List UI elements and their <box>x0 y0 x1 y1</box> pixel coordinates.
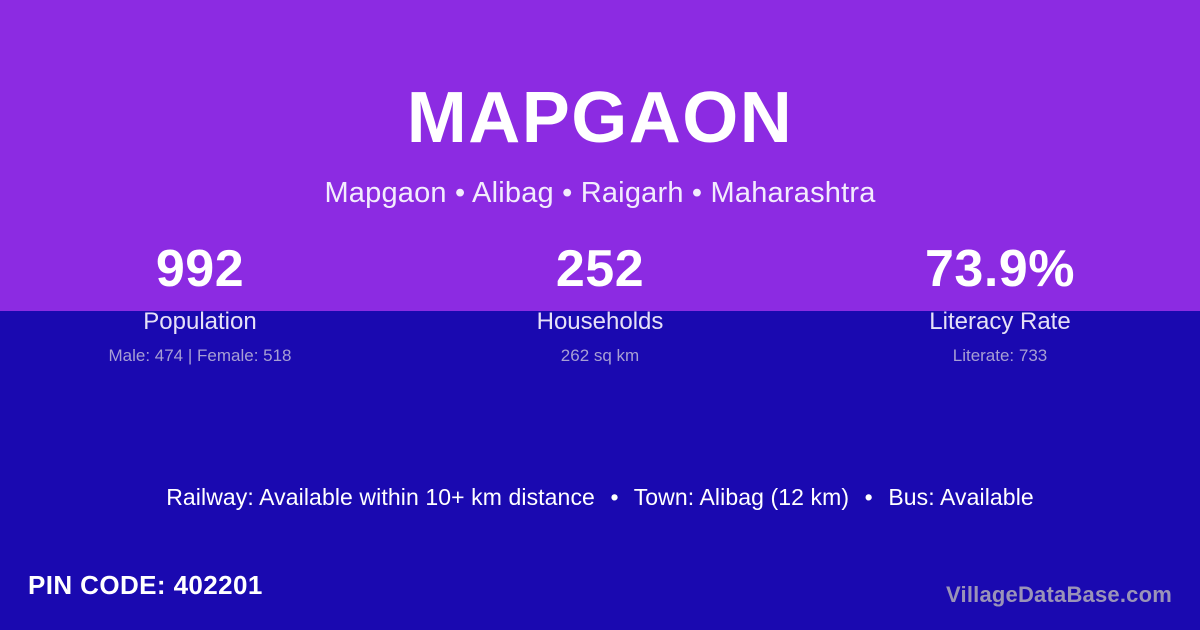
transit-bus: Bus: Available <box>888 484 1033 510</box>
stat-value-households: 252 <box>400 243 800 295</box>
breadcrumb: Mapgaon • Alibag • Raigarh • Maharashtra <box>0 178 1200 210</box>
stat-literacy-rate: 73.9% Literacy Rate Literate: 733 <box>800 243 1200 366</box>
stat-households: 252 Households 262 sq km <box>400 243 800 366</box>
footer: PIN CODE: 402201 VillageDataBase.com <box>0 556 1200 630</box>
stat-value-literacy-rate: 73.9% <box>800 243 1200 295</box>
stat-population: 992 Population Male: 474 | Female: 518 <box>0 243 400 366</box>
pin-code: PIN CODE: 402201 <box>28 570 263 601</box>
stat-label-households: Households <box>400 309 800 335</box>
header-block: MAPGAON Mapgaon • Alibag • Raigarh • Mah… <box>0 0 1200 210</box>
transit-town: Town: Alibag (12 km) <box>634 484 849 510</box>
transit-info-row: Railway: Available within 10+ km distanc… <box>0 484 1200 511</box>
brand-watermark: VillageDataBase.com <box>946 582 1172 608</box>
stat-sub-households: 262 sq km <box>400 347 800 366</box>
page-title: MAPGAON <box>0 82 1200 154</box>
stat-sub-population: Male: 474 | Female: 518 <box>0 347 400 366</box>
stat-label-literacy-rate: Literacy Rate <box>800 309 1200 335</box>
village-info-card: MAPGAON Mapgaon • Alibag • Raigarh • Mah… <box>0 0 1200 630</box>
stats-row: 992 Population Male: 474 | Female: 518 2… <box>0 243 1200 366</box>
transit-separator-2: • <box>856 484 882 511</box>
transit-separator-1: • <box>601 484 627 511</box>
stat-label-population: Population <box>0 309 400 335</box>
stat-sub-literacy-rate: Literate: 733 <box>800 347 1200 366</box>
transit-railway: Railway: Available within 10+ km distanc… <box>166 484 595 510</box>
stat-value-population: 992 <box>0 243 400 295</box>
